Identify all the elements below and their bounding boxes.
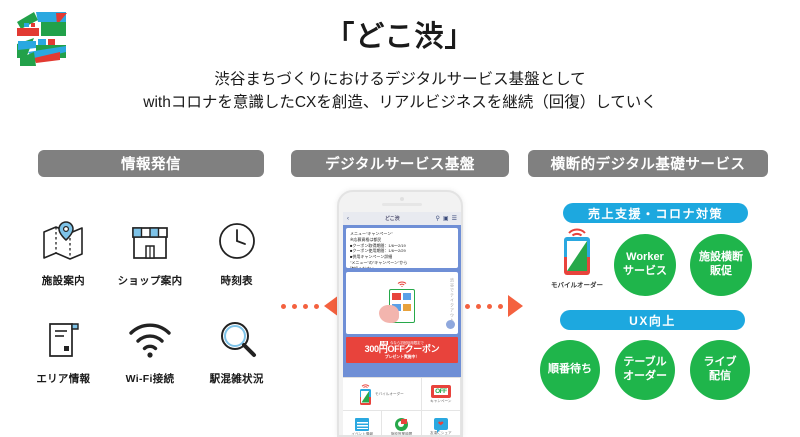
circle-line-1: Worker bbox=[626, 251, 664, 265]
promo-vertical-text: 渋谷でテイクアウト bbox=[449, 278, 455, 323]
info-item-label: ショップ案内 bbox=[118, 273, 183, 288]
mobile-order-icon bbox=[564, 237, 590, 275]
circle-queue-waiting[interactable]: 順番待ち bbox=[540, 340, 600, 400]
app-tile-label: キャンペーン bbox=[430, 399, 451, 404]
circle-line-2: 配信 bbox=[709, 370, 731, 384]
arrow-right-head bbox=[508, 295, 523, 317]
app-tile-label: イベント情報 bbox=[351, 432, 373, 437]
message-line: 確認ください。 bbox=[350, 266, 454, 268]
phone-camera bbox=[400, 197, 404, 201]
app-tile-mobile-order[interactable]: モバイルオーダー bbox=[343, 378, 422, 411]
subtitle-line-1: 渋谷まちづくりにおけるデジタルサービス基盤として bbox=[0, 68, 800, 91]
info-item-congestion[interactable]: 駅混雑状況 bbox=[193, 316, 280, 386]
back-icon[interactable]: ‹ bbox=[347, 216, 349, 222]
app-tile-hours[interactable]: 施設営業時間 bbox=[382, 411, 421, 437]
app-tile-grid: モバイルオーダー OFF キャンペーン イベント情報 施設営業時間 ❤ bbox=[343, 377, 461, 437]
phone-speaker bbox=[382, 203, 422, 206]
circle-line-2: オーダー bbox=[623, 370, 667, 384]
message-card: メニュー"キャンペーン" ※応募資格は都民 ■クーポン取得期間：1/6〜2/19… bbox=[346, 228, 458, 268]
arrow-right-dotted bbox=[460, 295, 518, 317]
info-item-facility[interactable]: 施設案内 bbox=[20, 218, 107, 288]
arrow-right-dots bbox=[460, 304, 508, 309]
app-body: メニュー"キャンペーン" ※応募資格は都民 ■クーポン取得期間：1/6〜2/19… bbox=[343, 225, 461, 377]
section-header-center: デジタルサービス基盤 bbox=[291, 150, 509, 177]
info-item-area[interactable]: エリア情報 bbox=[20, 316, 107, 386]
pill-sales-support: 売上支援・コロナ対策 bbox=[563, 203, 748, 223]
circle-line-1: 順番待ち bbox=[548, 363, 592, 377]
arrow-left-dotted bbox=[283, 295, 339, 317]
right-mobile-order-item[interactable]: モバイルオーダー bbox=[545, 228, 609, 289]
chat-heart-icon: ❤ bbox=[434, 418, 448, 430]
coupon-banner[interactable]: 先着 今なら初回利用限定で 300円OFFクーポン プレゼント実施中！ bbox=[346, 337, 458, 363]
section-header-left: 情報発信 bbox=[38, 150, 264, 177]
wifi-icon bbox=[397, 281, 407, 287]
clock-pie-icon bbox=[395, 418, 408, 431]
calendar-icon bbox=[355, 418, 369, 431]
slide-root: 「どこ渋」 渋谷まちづくりにおけるデジタルサービス基盤として withコロナを意… bbox=[0, 0, 800, 437]
promo-illustration bbox=[385, 281, 419, 325]
info-item-wifi[interactable]: Wi-Fi接続 bbox=[107, 316, 194, 386]
app-tile-label: 友達にシェア bbox=[430, 431, 452, 436]
app-tile-label: モバイルオーダー bbox=[375, 392, 404, 397]
coupon-sub-text: プレゼント実施中！ bbox=[385, 355, 419, 360]
floating-action-button[interactable] bbox=[446, 320, 455, 329]
app-tile-share[interactable]: ❤ 友達にシェア bbox=[422, 411, 461, 437]
app-tile-event[interactable]: イベント情報 bbox=[343, 411, 382, 437]
info-item-label: 施設案内 bbox=[42, 273, 85, 288]
app-top-bar: ‹ どこ渋 ⚲ ▣ ☰ bbox=[343, 212, 461, 225]
document-icon bbox=[40, 316, 86, 362]
off-badge-icon: OFF bbox=[431, 385, 451, 398]
info-item-timetable[interactable]: 時刻表 bbox=[193, 218, 280, 288]
info-service-icon-grid: 施設案内 ショップ案内 bbox=[20, 218, 280, 386]
subtitle-line-2: withコロナを意識したCXを創造、リアルビジネスを継続（回復）していく bbox=[0, 91, 800, 114]
app-title: どこ渋 bbox=[352, 215, 433, 222]
page-title: 「どこ渋」 bbox=[0, 22, 800, 54]
magnifier-icon bbox=[214, 316, 260, 362]
circle-line-1: 施設横断 bbox=[699, 251, 743, 265]
circle-table-order[interactable]: テーブル オーダー bbox=[615, 340, 675, 400]
bookmark-icon[interactable]: ▣ bbox=[443, 215, 449, 222]
mobile-order-label: モバイルオーダー bbox=[551, 279, 603, 289]
search-icon[interactable]: ⚲ bbox=[436, 215, 440, 222]
info-item-label: Wi-Fi接続 bbox=[126, 371, 175, 386]
map-pin-icon bbox=[40, 218, 86, 264]
info-item-label: 時刻表 bbox=[220, 273, 252, 288]
pill-ux-improvement: UX向上 bbox=[560, 310, 745, 330]
circle-line-1: テーブル bbox=[623, 356, 666, 370]
circle-line-2: サービス bbox=[623, 265, 667, 279]
coupon-main-text: 300円OFFクーポン bbox=[365, 345, 440, 354]
circle-live-streaming[interactable]: ライブ 配信 bbox=[690, 340, 750, 400]
info-item-label: 駅混雑状況 bbox=[210, 371, 264, 386]
promo-card[interactable]: 渋谷でテイクアウト bbox=[346, 272, 458, 334]
circle-line-1: ライブ bbox=[704, 356, 737, 370]
app-tile-label: 施設営業時間 bbox=[391, 432, 413, 437]
shop-icon bbox=[127, 218, 173, 264]
arrow-left-dots bbox=[276, 304, 324, 309]
section-header-right: 横断的デジタル基礎サービス bbox=[528, 150, 768, 177]
info-item-label: エリア情報 bbox=[36, 371, 90, 386]
wifi-icon bbox=[567, 228, 587, 237]
mobile-order-icon bbox=[360, 389, 371, 405]
clock-icon bbox=[214, 218, 260, 264]
app-tile-campaign[interactable]: OFF キャンペーン bbox=[422, 378, 461, 411]
circle-line-2: 販促 bbox=[710, 265, 732, 279]
circle-worker-service[interactable]: Worker サービス bbox=[614, 234, 676, 296]
hand-illustration bbox=[379, 305, 399, 323]
hamburger-icon[interactable]: ☰ bbox=[452, 215, 457, 222]
phone-screen: ‹ どこ渋 ⚲ ▣ ☰ メニュー"キャンペーン" ※応募資格は都民 ■クーポン取… bbox=[343, 212, 461, 437]
phone-mockup: ‹ どこ渋 ⚲ ▣ ☰ メニュー"キャンペーン" ※応募資格は都民 ■クーポン取… bbox=[337, 190, 463, 437]
wifi-icon bbox=[127, 316, 173, 362]
info-item-shop[interactable]: ショップ案内 bbox=[107, 218, 194, 288]
page-subtitle: 渋谷まちづくりにおけるデジタルサービス基盤として withコロナを意識したCXを… bbox=[0, 68, 800, 115]
circle-cross-facility-promotion[interactable]: 施設横断 販促 bbox=[690, 234, 752, 296]
